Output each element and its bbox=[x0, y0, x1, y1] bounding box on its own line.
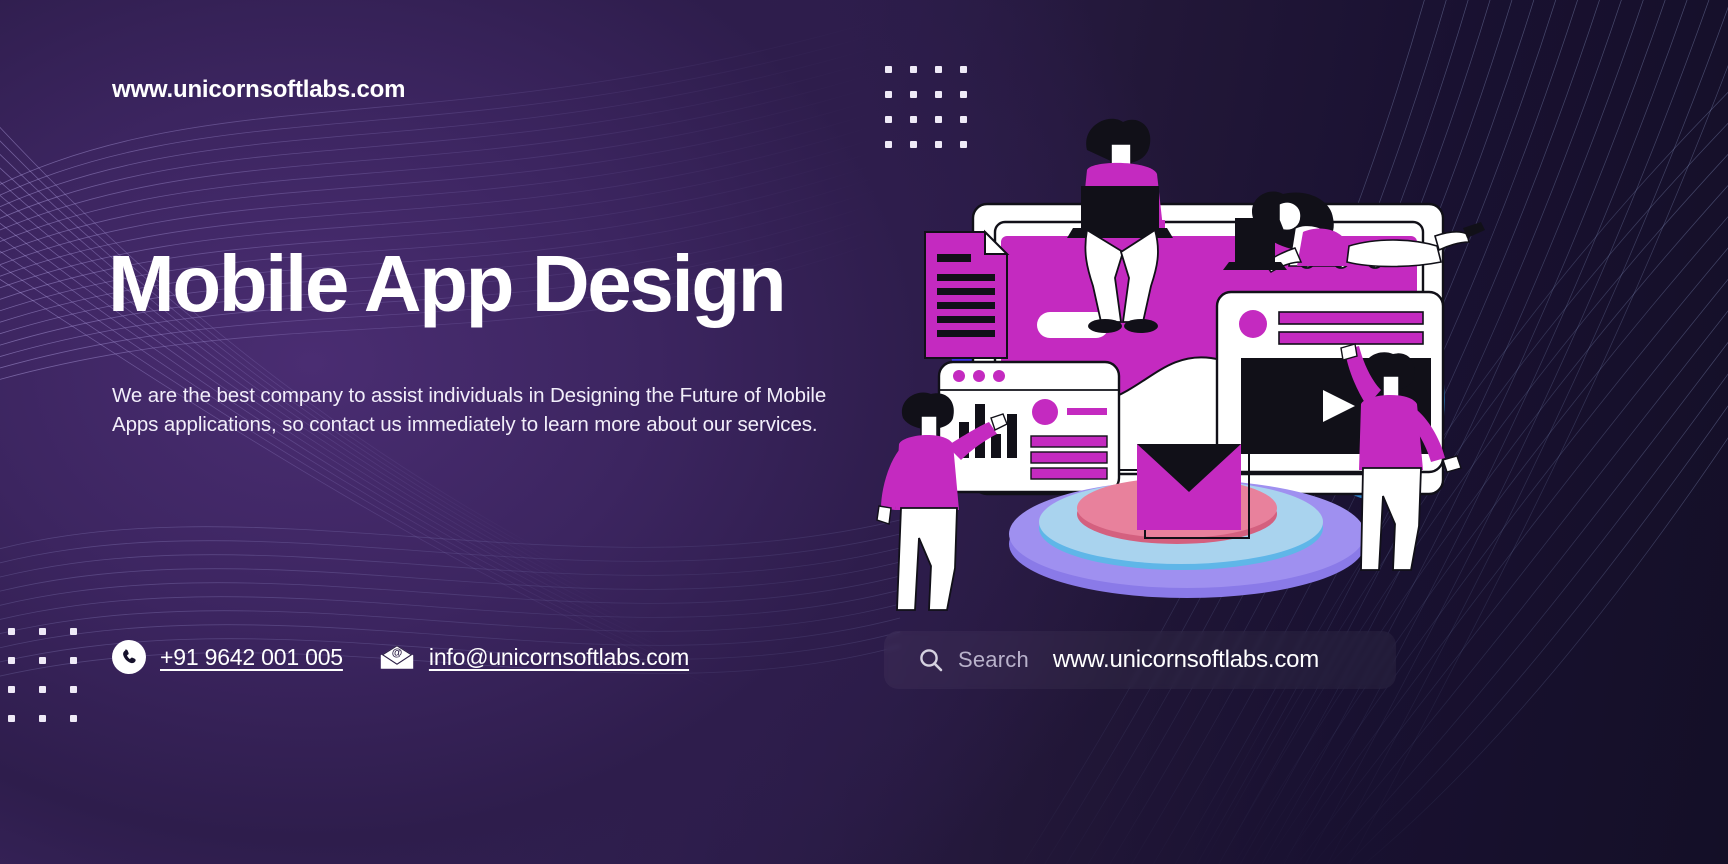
contact-row: +91 9642 001 005 @ info@unicornsoftlabs.… bbox=[112, 640, 689, 674]
site-url-top: www.unicornsoftlabs.com bbox=[112, 76, 405, 104]
person-pointing-chart bbox=[877, 392, 1007, 610]
search-value: www.unicornsoftlabs.com bbox=[1053, 646, 1319, 674]
mobile-app-design-illustration bbox=[855, 100, 1495, 620]
dot-grid-decoration-bottom bbox=[8, 628, 77, 722]
search-icon bbox=[918, 647, 944, 673]
phone-number: +91 9642 001 005 bbox=[160, 644, 343, 671]
envelope-at-icon: @ bbox=[379, 643, 415, 671]
email-address: info@unicornsoftlabs.com bbox=[429, 644, 689, 671]
page-title: Mobile App Design bbox=[108, 244, 784, 324]
promo-banner: www.unicornsoftlabs.com Mobile App Desig… bbox=[0, 0, 1728, 864]
document-sheet bbox=[925, 232, 1007, 358]
contact-phone[interactable]: +91 9642 001 005 bbox=[112, 640, 343, 674]
svg-text:@: @ bbox=[392, 647, 403, 659]
lead-paragraph: We are the best company to assist indivi… bbox=[112, 381, 852, 439]
phone-icon bbox=[112, 640, 146, 674]
envelope-icon bbox=[1137, 444, 1249, 538]
search-placeholder: Search bbox=[958, 647, 1029, 673]
search-bar[interactable]: Search www.unicornsoftlabs.com bbox=[884, 631, 1396, 689]
contact-email[interactable]: @ info@unicornsoftlabs.com bbox=[379, 643, 689, 671]
browser-window-small-dashboard bbox=[939, 362, 1119, 492]
